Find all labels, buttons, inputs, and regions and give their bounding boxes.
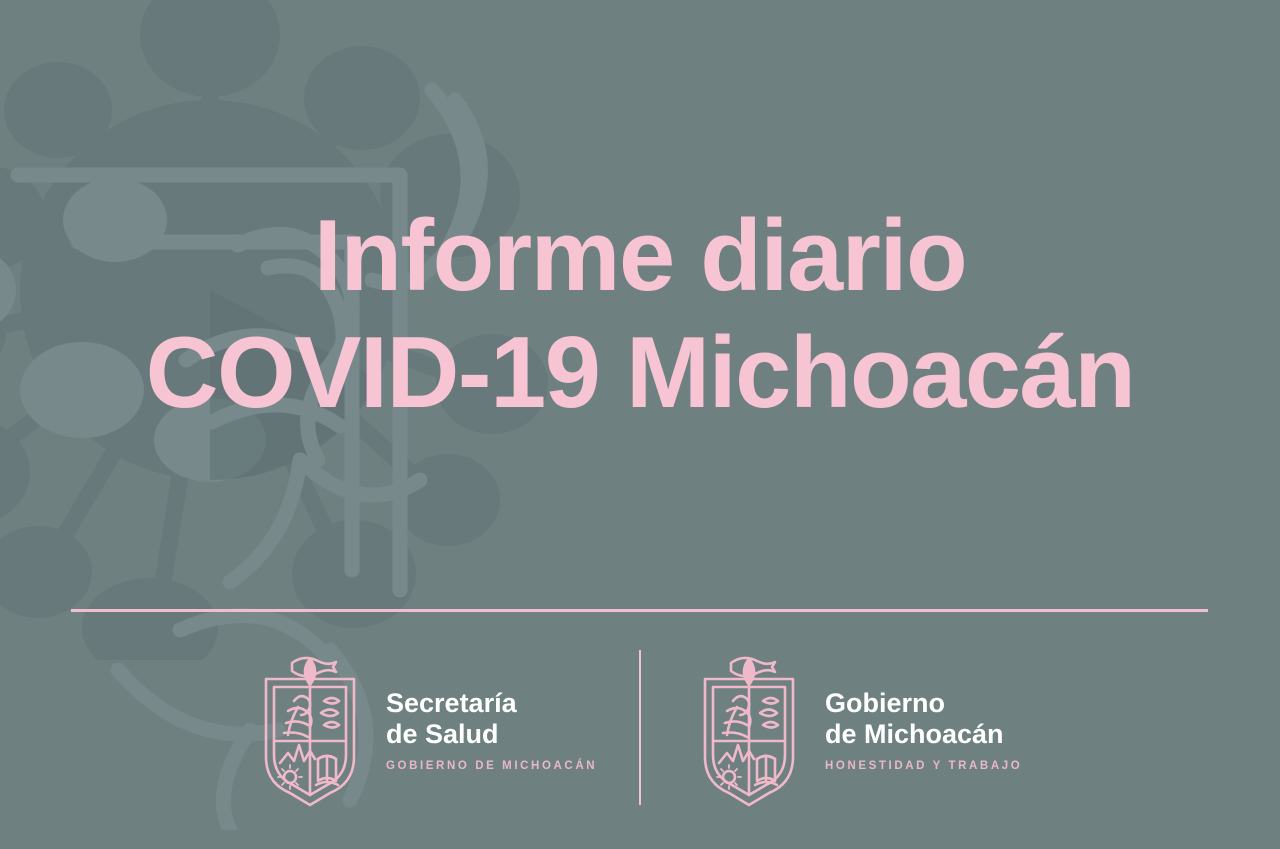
michoacan-coat-of-arms-icon (258, 649, 362, 807)
logo-tagline: HONESTIDAD Y TRABAJO (825, 760, 1022, 772)
covid-daily-report-slide: Informe diario COVID-19 Michoacán (0, 0, 1280, 849)
logo-text-block: Gobierno de Michoacán HONESTIDAD Y TRABA… (825, 684, 1022, 772)
logo-name-line-1: Secretaría (386, 688, 597, 719)
title-line-2: COVID-19 Michoacán (0, 315, 1280, 432)
horizontal-divider (71, 609, 1208, 612)
logo-secretaria-de-salud: Secretaría de Salud GOBIERNO DE MICHOACÁ… (258, 649, 597, 807)
title-line-1: Informe diario (0, 198, 1280, 315)
logo-name-line-2: de Michoacán (825, 719, 1022, 750)
page-title: Informe diario COVID-19 Michoacán (0, 198, 1280, 432)
logo-gobierno-de-michoacan: Gobierno de Michoacán HONESTIDAD Y TRABA… (697, 649, 1022, 807)
logo-tagline: GOBIERNO DE MICHOACÁN (386, 760, 597, 772)
michoacan-coat-of-arms-icon (697, 649, 801, 807)
vertical-divider (639, 650, 641, 805)
logo-text-block: Secretaría de Salud GOBIERNO DE MICHOACÁ… (386, 684, 597, 772)
logo-name-line-2: de Salud (386, 719, 597, 750)
logo-name-line-1: Gobierno (825, 688, 1022, 719)
footer-logos: Secretaría de Salud GOBIERNO DE MICHOACÁ… (0, 645, 1280, 815)
